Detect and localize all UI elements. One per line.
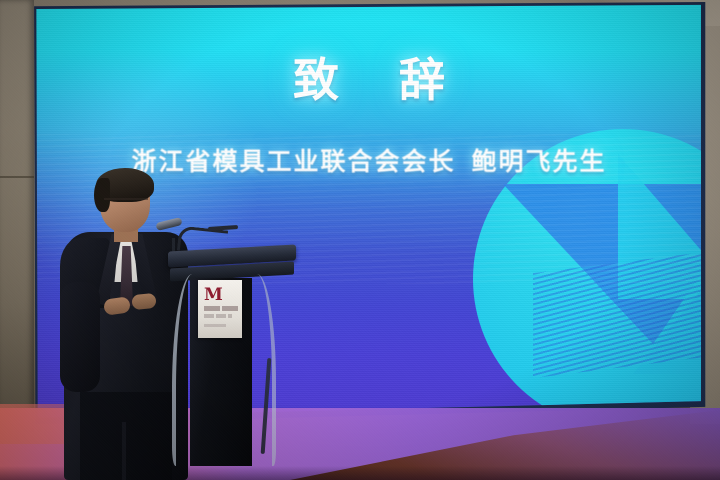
decorative-triangle-a [503,184,705,344]
decorative-striped-band [533,245,705,378]
slide-title: 致 辞 [33,44,705,110]
marriott-m-logo-icon: M [204,288,219,304]
brand-text-line-3 [204,324,226,327]
brand-text-line-2 [204,314,232,318]
wall-seam [0,176,34,178]
slide-subtitle-name: 鲍明飞先生 [472,147,607,176]
speaker-legs [80,392,172,480]
wall-panel-left [0,0,34,432]
speaker-arm-left [60,282,100,392]
speaker-leg-split [122,422,126,480]
brand-text-line-1 [204,306,238,311]
decorative-triangle-c [633,244,705,374]
conference-stage-photo: 致 辞 浙江省模具工业联合会会长鲍明飞先生 [0,0,720,480]
podium-brand-plaque: M [198,280,242,338]
speaker-glasses [104,198,148,209]
podium: M [168,238,296,466]
podium-rail-right [242,274,276,466]
